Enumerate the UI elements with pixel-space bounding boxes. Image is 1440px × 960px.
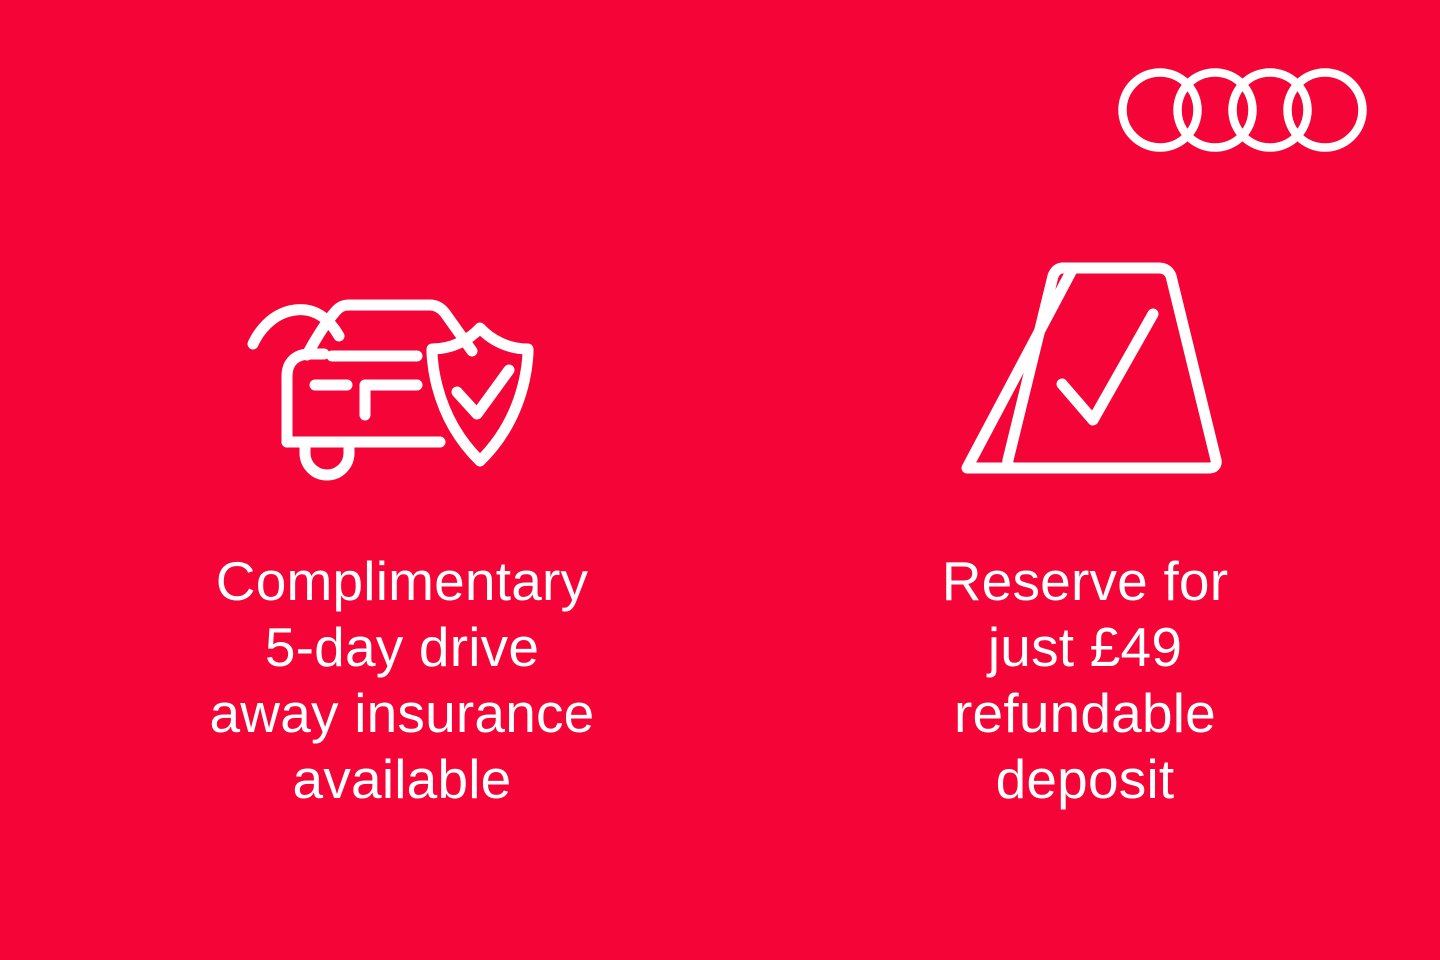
feature-deposit: Reserve for just £49 refundable deposit <box>840 252 1330 812</box>
audi-four-rings-icon <box>1118 64 1368 156</box>
car-shield-icon <box>247 252 557 484</box>
car-shield-svg <box>247 252 557 484</box>
promo-banner: Complimentary 5-day drive away insurance… <box>0 0 1440 960</box>
tent-card-check-icon <box>945 252 1225 484</box>
tent-card-svg <box>945 252 1225 484</box>
shield-check-icon <box>432 328 528 461</box>
feature-insurance: Complimentary 5-day drive away insurance… <box>122 252 682 812</box>
feature-deposit-caption: Reserve for just £49 refundable deposit <box>840 548 1330 812</box>
audi-rings-svg <box>1118 64 1368 156</box>
check-mark-icon <box>1062 314 1153 420</box>
feature-insurance-caption: Complimentary 5-day drive away insurance… <box>122 548 682 812</box>
